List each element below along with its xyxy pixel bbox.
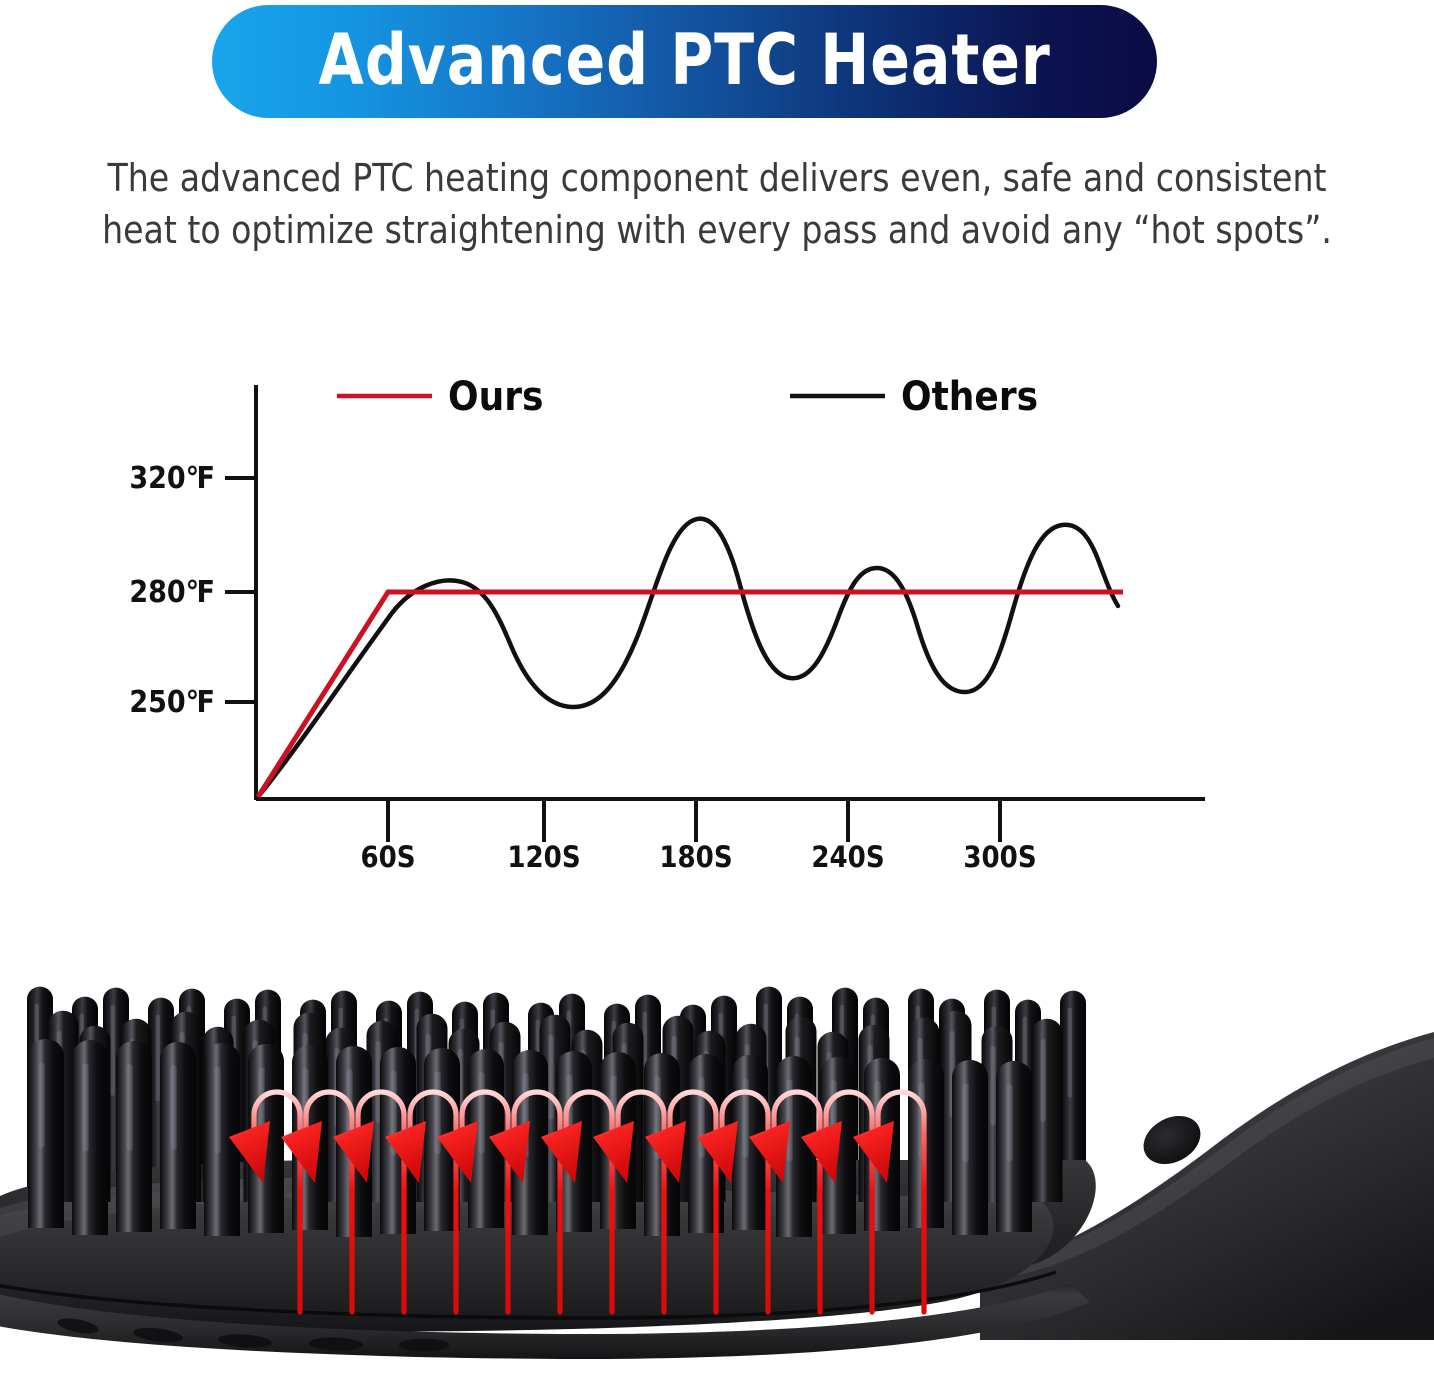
header-banner: Advanced PTC Heater	[0, 0, 1434, 130]
x-tick-label-180s: 180S	[659, 840, 732, 874]
series-line-ours	[258, 592, 1123, 797]
x-tick-label-240s: 240S	[811, 840, 884, 874]
x-tick-label-300s: 300S	[963, 840, 1036, 874]
description-block: The advanced PTC heating component deliv…	[0, 152, 1434, 256]
x-tick-label-120s: 120S	[507, 840, 580, 874]
x-axis-ticks: 60S 120S 180S 240S 300S	[360, 799, 1036, 874]
infographic-page: Advanced PTC Heater The advanced PTC hea…	[0, 0, 1434, 1375]
y-tick-label-320: 320℉	[129, 461, 215, 496]
description-line-2: heat to optimize straightening with ever…	[22, 204, 1413, 256]
legend-label-others: Others	[901, 374, 1038, 420]
y-tick-label-280: 280℉	[129, 575, 215, 610]
temperature-chart: Ours Others 320℉ 280℉ 250℉ 60S	[0, 330, 1434, 890]
product-image	[0, 940, 1434, 1375]
chart-svg: Ours Others 320℉ 280℉ 250℉ 60S	[0, 330, 1434, 890]
series-line-others	[258, 519, 1118, 797]
chart-legend: Ours Others	[337, 374, 1038, 420]
description-line-1: The advanced PTC heating component deliv…	[22, 152, 1413, 204]
x-tick-label-60s: 60S	[360, 840, 415, 874]
legend-label-ours: Ours	[448, 374, 543, 420]
y-axis-ticks: 320℉ 280℉ 250℉	[129, 461, 256, 720]
y-tick-label-250: 250℉	[129, 685, 215, 720]
product-svg	[0, 940, 1434, 1375]
page-title: Advanced PTC Heater	[318, 25, 1050, 95]
header-pill: Advanced PTC Heater	[212, 5, 1157, 118]
